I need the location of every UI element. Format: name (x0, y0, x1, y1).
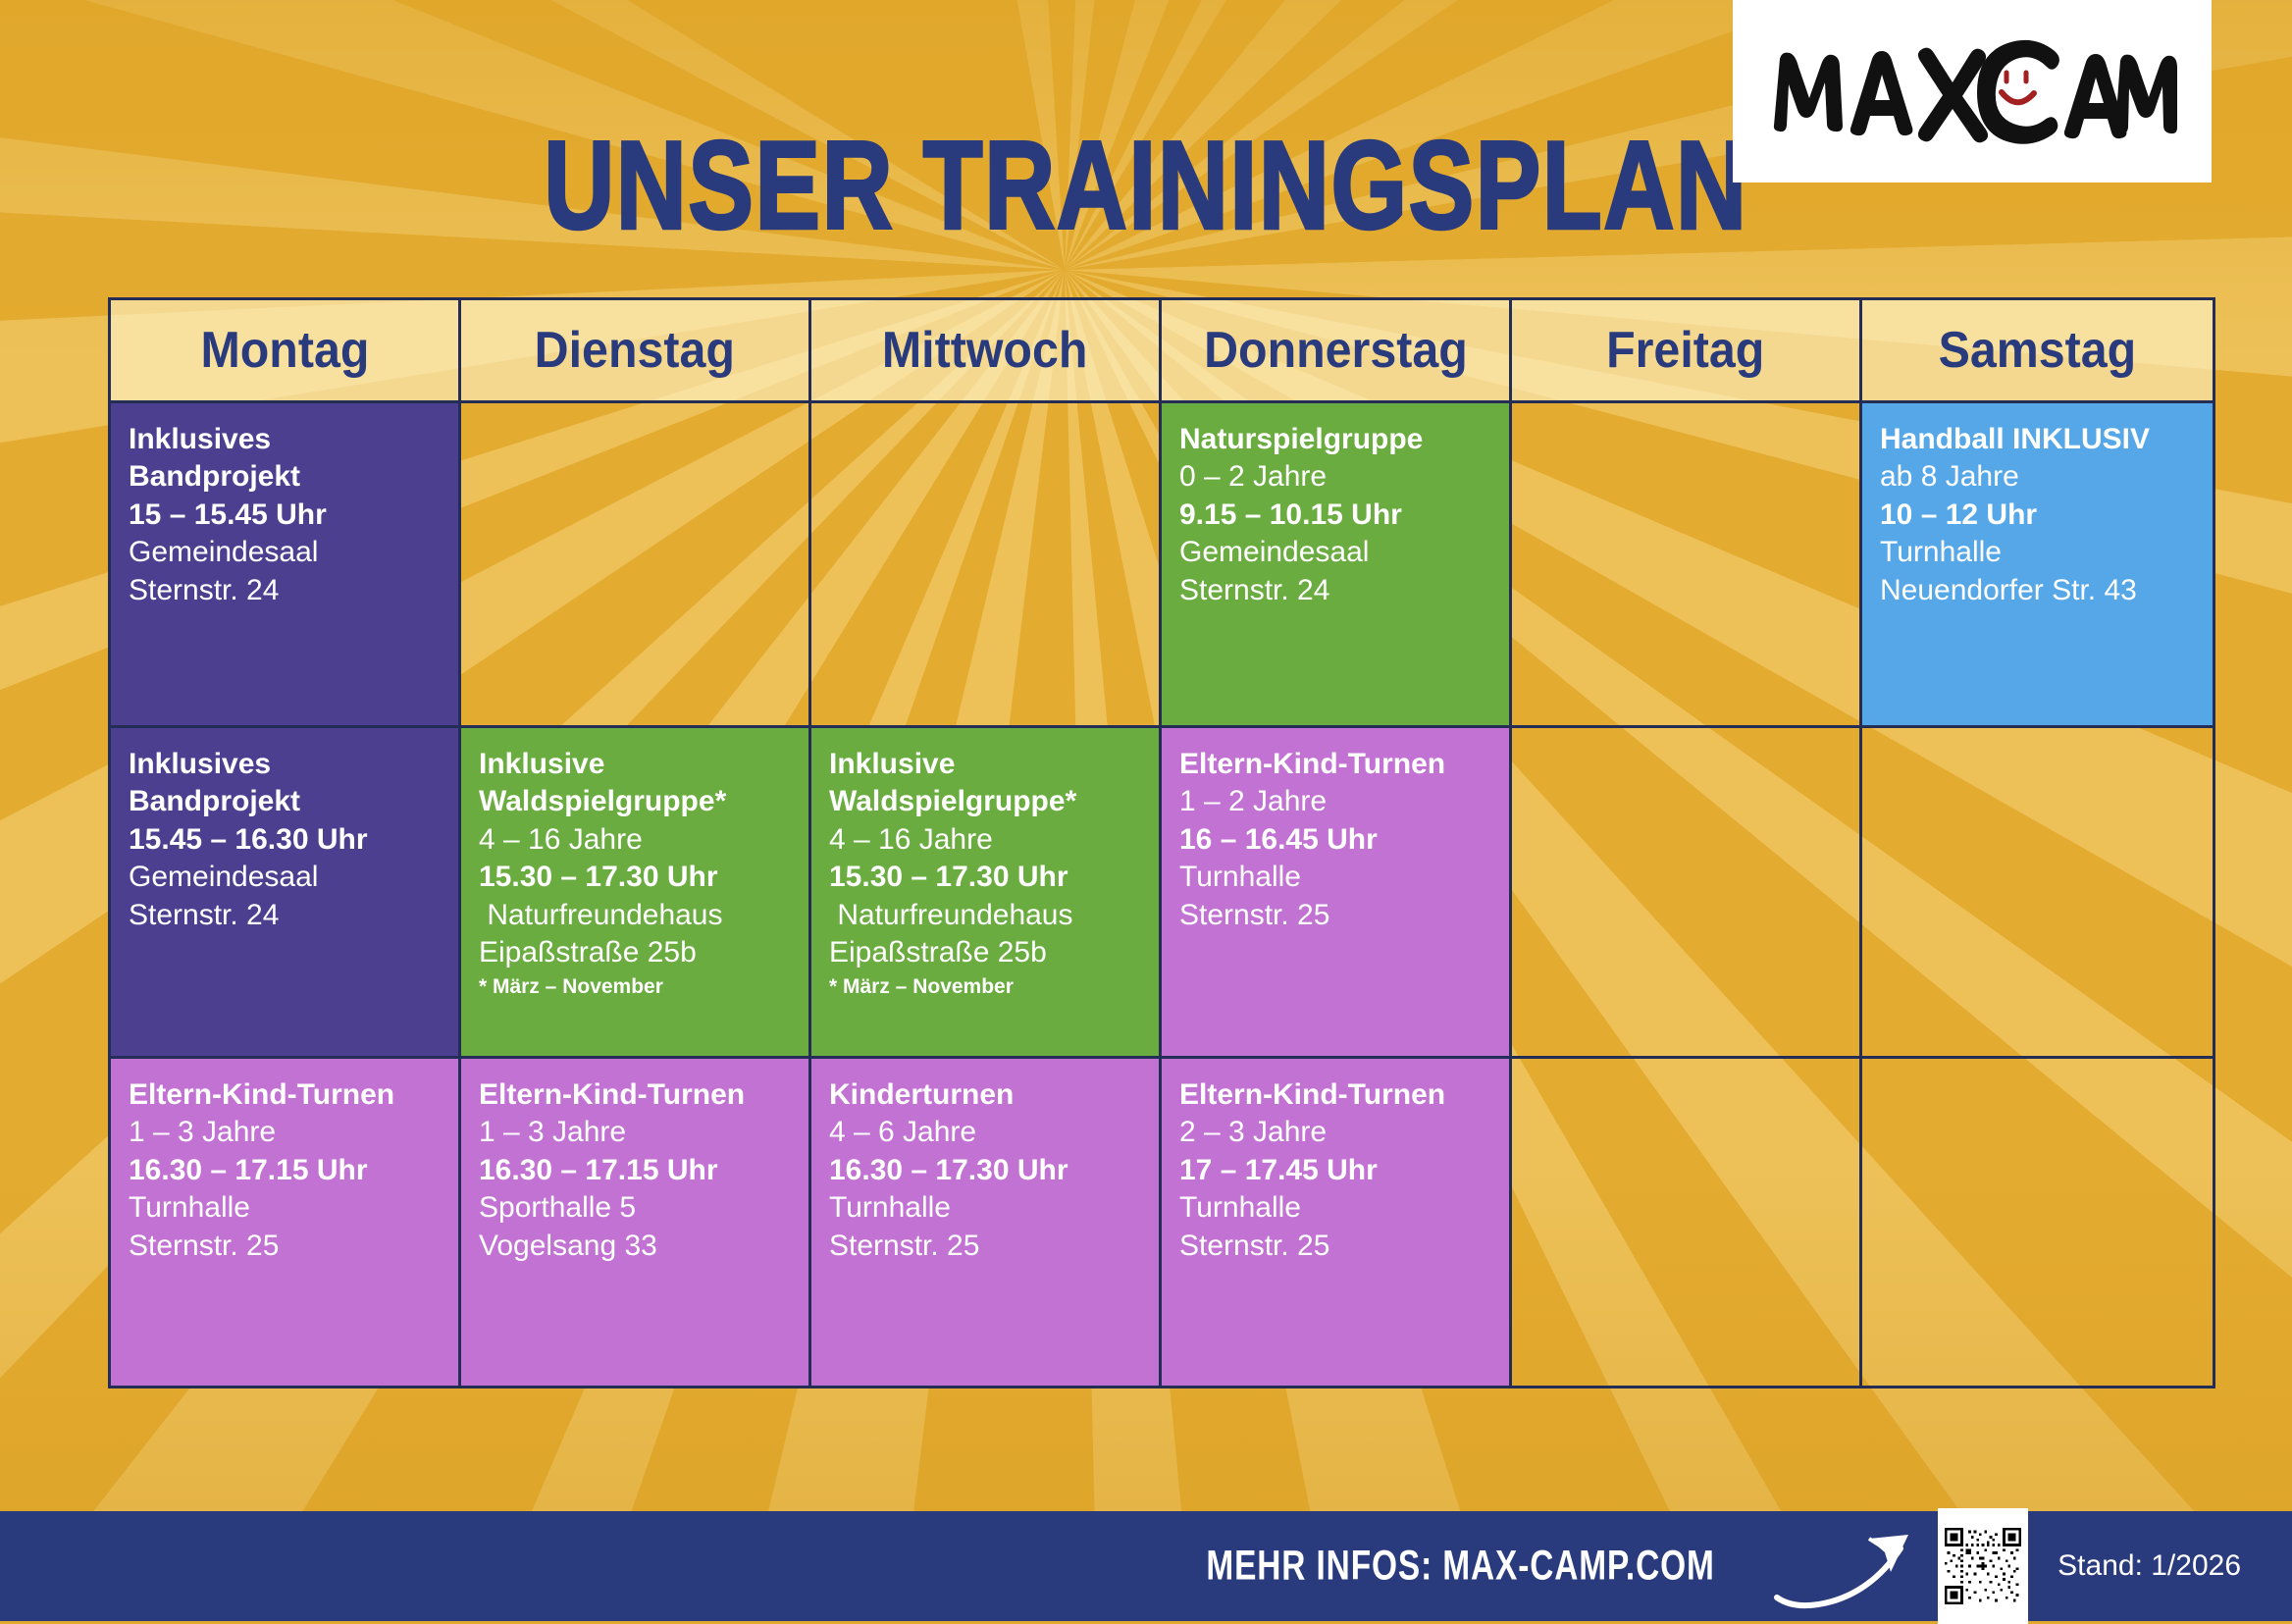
header-label: Mittwoch (882, 321, 1088, 380)
schedule-cell-content: Eltern-Kind-Turnen1 – 3 Jahre16.30 – 17.… (461, 1059, 808, 1265)
header-label: Freitag (1606, 321, 1764, 380)
schedule-cell-line: Inklusives (129, 421, 458, 458)
schedule-cell-line: ab 8 Jahre (1880, 458, 2213, 496)
schedule-cell-line: 17 – 17.45 Uhr (1179, 1152, 1509, 1189)
schedule-cell-content: Eltern-Kind-Turnen1 – 3 Jahre16.30 – 17.… (111, 1059, 458, 1265)
schedule-cell-line: Handball INKLUSIV (1880, 421, 2213, 458)
column-header-montag: Montag (111, 300, 461, 403)
schedule-cell-line: Naturspielgruppe (1179, 421, 1509, 458)
qr-code-icon[interactable] (1938, 1508, 2028, 1624)
schedule-cell-content: Eltern-Kind-Turnen2 – 3 Jahre17 – 17.45 … (1162, 1059, 1509, 1265)
schedule-cell-empty (1512, 1059, 1862, 1386)
logo-wordmark-icon (1766, 37, 2178, 145)
column-header-donnerstag: Donnerstag (1162, 300, 1512, 403)
schedule-cell-line: 16.30 – 17.15 Uhr (479, 1152, 808, 1189)
schedule-cell-line: Eltern-Kind-Turnen (129, 1076, 458, 1114)
schedule-cell-line: 15.30 – 17.30 Uhr (829, 859, 1159, 896)
schedule-cell-content: InklusiveWaldspielgruppe*4 – 16 Jahre15.… (811, 728, 1159, 1001)
schedule-cell-content: Handball INKLUSIVab 8 Jahre10 – 12 UhrTu… (1862, 403, 2213, 609)
schedule-cell-line: Turnhalle (1179, 859, 1509, 896)
schedule-cell-line: Naturfreundehaus (829, 897, 1159, 934)
schedule-cell-line: Eipaßstraße 25b (829, 934, 1159, 971)
schedule-cell-line: Eipaßstraße 25b (479, 934, 808, 971)
schedule-cell[interactable]: InklusiveWaldspielgruppe*4 – 16 Jahre15.… (811, 728, 1162, 1059)
schedule-cell-content: Naturspielgruppe0 – 2 Jahre9.15 – 10.15 … (1162, 403, 1509, 609)
smiley-face-icon (2002, 73, 2034, 102)
schedule-cell-line: 0 – 2 Jahre (1179, 458, 1509, 496)
header-label: Samstag (1939, 321, 2137, 380)
schedule-cell-empty (1512, 403, 1862, 728)
schedule-cell-empty (1862, 1059, 2213, 1386)
schedule-cell[interactable]: InklusivesBandprojekt15.45 – 16.30 UhrGe… (111, 728, 461, 1059)
table-header-row: Montag Dienstag Mittwoch Donnerstag Frei… (111, 300, 2213, 403)
schedule-cell-line: 15.45 – 16.30 Uhr (129, 821, 458, 859)
column-header-samstag: Samstag (1862, 300, 2213, 403)
schedule-cell[interactable]: Naturspielgruppe0 – 2 Jahre9.15 – 10.15 … (1162, 403, 1512, 728)
schedule-cell-line: Sternstr. 24 (129, 572, 458, 609)
schedule-cell-line: Waldspielgruppe* (829, 783, 1159, 820)
schedule-cell-content: Kinderturnen4 – 6 Jahre16.30 – 17.30 Uhr… (811, 1059, 1159, 1265)
schedule-cell-line: 10 – 12 Uhr (1880, 497, 2213, 534)
schedule-cell-line: Sternstr. 24 (1179, 572, 1509, 609)
more-info-url[interactable]: MEHR INFOS: MAX-CAMP.COM (1206, 1543, 1714, 1590)
max-camp-logo (1733, 0, 2212, 183)
schedule-cell-line: Eltern-Kind-Turnen (1179, 1076, 1509, 1114)
stand-date: Stand: 1/2026 (2058, 1549, 2241, 1583)
header-label: Montag (200, 321, 369, 380)
schedule-cell-line: 9.15 – 10.15 Uhr (1179, 497, 1509, 534)
schedule-cell-line: Sporthalle 5 (479, 1189, 808, 1227)
schedule-cell-content: InklusivesBandprojekt15 – 15.45 UhrGemei… (111, 403, 458, 609)
schedule-cell-line: 16 – 16.45 Uhr (1179, 821, 1509, 859)
footer-bar: MEHR INFOS: MAX-CAMP.COM (0, 1511, 2292, 1621)
schedule-cell-line: Vogelsang 33 (479, 1228, 808, 1265)
column-header-mittwoch: Mittwoch (811, 300, 1162, 403)
column-header-dienstag: Dienstag (461, 300, 811, 403)
schedule-cell-line: Neuendorfer Str. 43 (1880, 572, 2213, 609)
schedule-cell[interactable]: Eltern-Kind-Turnen1 – 2 Jahre16 – 16.45 … (1162, 728, 1512, 1059)
schedule-cell-line: Sternstr. 25 (129, 1228, 458, 1265)
schedule-cell-empty (1512, 728, 1862, 1059)
schedule-cell-line: 1 – 3 Jahre (129, 1114, 458, 1151)
schedule-cell[interactable]: Handball INKLUSIVab 8 Jahre10 – 12 UhrTu… (1862, 403, 2213, 728)
table-row: InklusivesBandprojekt15.45 – 16.30 UhrGe… (111, 728, 2213, 1059)
schedule-cell-footnote: * März – November (829, 974, 1159, 1001)
schedule-cell-line: Naturfreundehaus (479, 897, 808, 934)
schedule-cell-line: 4 – 16 Jahre (479, 821, 808, 859)
schedule-cell-line: Eltern-Kind-Turnen (1179, 746, 1509, 783)
schedule-cell-line: Inklusives (129, 746, 458, 783)
qr-matrix (1945, 1528, 2021, 1604)
schedule-cell-content: Eltern-Kind-Turnen1 – 2 Jahre16 – 16.45 … (1162, 728, 1509, 934)
schedule-cell-line: Sternstr. 25 (1179, 1228, 1509, 1265)
curved-arrow-icon (1771, 1521, 1928, 1611)
schedule-cell-content: InklusiveWaldspielgruppe*4 – 16 Jahre15.… (461, 728, 808, 1001)
schedule-cell[interactable]: Eltern-Kind-Turnen1 – 3 Jahre16.30 – 17.… (111, 1059, 461, 1386)
schedule-cell-line: Turnhalle (129, 1189, 458, 1227)
schedule-cell-line: 15.30 – 17.30 Uhr (479, 859, 808, 896)
schedule-cell-empty (811, 403, 1162, 728)
schedule-cell-line: Eltern-Kind-Turnen (479, 1076, 808, 1114)
schedule-cell[interactable]: Eltern-Kind-Turnen1 – 3 Jahre16.30 – 17.… (461, 1059, 811, 1386)
schedule-cell-line: Inklusive (829, 746, 1159, 783)
schedule-cell-line: Waldspielgruppe* (479, 783, 808, 820)
column-header-freitag: Freitag (1512, 300, 1862, 403)
schedule-cell-line: Sternstr. 25 (829, 1228, 1159, 1265)
schedule-cell-line: Kinderturnen (829, 1076, 1159, 1114)
schedule-cell-line: 16.30 – 17.30 Uhr (829, 1152, 1159, 1189)
schedule-cell-line: 2 – 3 Jahre (1179, 1114, 1509, 1151)
schedule-cell-line: Bandprojekt (129, 458, 458, 496)
schedule-cell-line: Bandprojekt (129, 783, 458, 820)
schedule-cell-line: Gemeindesaal (129, 534, 458, 571)
schedule-cell-line: Inklusive (479, 746, 808, 783)
table-row: Eltern-Kind-Turnen1 – 3 Jahre16.30 – 17.… (111, 1059, 2213, 1386)
schedule-cell-line: Turnhalle (829, 1189, 1159, 1227)
schedule-cell-empty (1862, 728, 2213, 1059)
schedule-cell[interactable]: Eltern-Kind-Turnen2 – 3 Jahre17 – 17.45 … (1162, 1059, 1512, 1386)
schedule-cell-line: 1 – 3 Jahre (479, 1114, 808, 1151)
header-label: Dienstag (535, 321, 735, 380)
schedule-cell-content: InklusivesBandprojekt15.45 – 16.30 UhrGe… (111, 728, 458, 934)
schedule-cell-empty (461, 403, 811, 728)
training-schedule-table: Montag Dienstag Mittwoch Donnerstag Frei… (108, 297, 2215, 1388)
schedule-cell-line: Sternstr. 24 (129, 897, 458, 934)
schedule-cell-line: 15 – 15.45 Uhr (129, 497, 458, 534)
schedule-cell-line: Gemeindesaal (129, 859, 458, 896)
schedule-cell-line: 4 – 6 Jahre (829, 1114, 1159, 1151)
schedule-cell-line: Turnhalle (1880, 534, 2213, 571)
schedule-cell-line: 1 – 2 Jahre (1179, 783, 1509, 820)
schedule-cell-line: Turnhalle (1179, 1189, 1509, 1227)
schedule-cell-line: Gemeindesaal (1179, 534, 1509, 571)
header-label: Donnerstag (1204, 321, 1468, 380)
table-row: InklusivesBandprojekt15 – 15.45 UhrGemei… (111, 403, 2213, 728)
schedule-cell[interactable]: InklusiveWaldspielgruppe*4 – 16 Jahre15.… (461, 728, 811, 1059)
schedule-cell-line: 16.30 – 17.15 Uhr (129, 1152, 458, 1189)
schedule-cell[interactable]: InklusivesBandprojekt15 – 15.45 UhrGemei… (111, 403, 461, 728)
schedule-cell-footnote: * März – November (479, 974, 808, 1001)
schedule-cell-line: Sternstr. 25 (1179, 897, 1509, 934)
schedule-cell-line: 4 – 16 Jahre (829, 821, 1159, 859)
schedule-cell[interactable]: Kinderturnen4 – 6 Jahre16.30 – 17.30 Uhr… (811, 1059, 1162, 1386)
